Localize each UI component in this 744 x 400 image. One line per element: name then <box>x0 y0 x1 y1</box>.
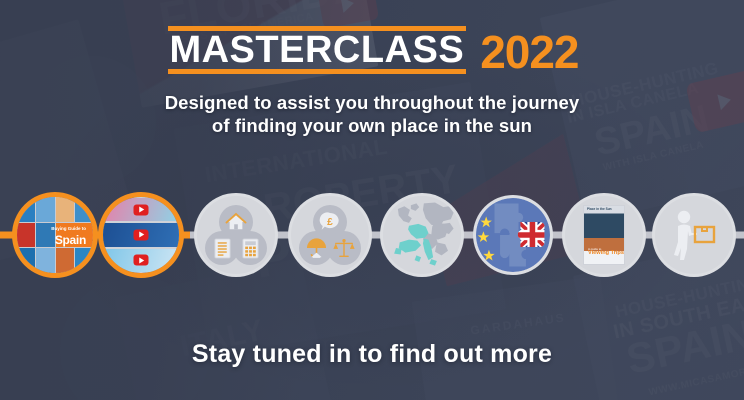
timeline-node-viewing-trips[interactable]: Place in the Sun A guide to Viewing Trip… <box>562 193 646 277</box>
title-row: MASTERCLASS 2022 <box>0 24 744 77</box>
footer-text: Stay tuned in to find out more <box>0 340 744 369</box>
video-thumbnail-italy <box>103 249 179 272</box>
person-carrying-box-icon <box>669 209 719 261</box>
timeline-node-brexit[interactable] <box>473 195 553 275</box>
timeline-node-moving[interactable] <box>652 193 736 277</box>
play-icon <box>134 204 149 215</box>
title-year: 2022 <box>480 29 578 75</box>
subtitle-line-2: of finding your own place in the sun <box>0 114 744 137</box>
timeline-node-finance-legal[interactable]: £ <box>288 193 372 277</box>
subtitle-line-1: Designed to assist you throughout the jo… <box>0 91 744 114</box>
svg-text:£: £ <box>327 217 333 228</box>
timeline-node-magazines[interactable]: Spain Buying Guide to <box>12 192 98 278</box>
video-thumbnail-property-markets <box>103 223 179 246</box>
europe-map-graphic <box>383 193 461 277</box>
timeline-node-videos[interactable] <box>98 192 184 278</box>
brexit-puzzle-graphic <box>476 195 550 275</box>
magazine-cover-title: Spain <box>55 234 86 246</box>
icon-cluster-finance-legal: £ <box>291 196 369 274</box>
scales-of-justice-icon <box>327 231 361 265</box>
play-icon <box>134 255 149 266</box>
title-underlined-box: MASTERCLASS <box>165 24 468 77</box>
subtitle: Designed to assist you throughout the jo… <box>0 91 744 137</box>
calculator-icon <box>233 231 267 265</box>
timeline-node-property-search[interactable] <box>194 193 278 277</box>
play-icon <box>134 229 149 240</box>
magazine-cover-kicker: Buying Guide to <box>51 227 86 232</box>
video-thumbnail-florida <box>103 198 179 221</box>
guide-brand: Place in the Sun <box>587 207 612 211</box>
timeline-node-europe-map[interactable] <box>380 193 464 277</box>
icon-cluster-property-search <box>197 196 275 274</box>
guide-title: Viewing Trips <box>588 251 624 257</box>
timeline: Spain Buying Guide to <box>0 180 744 290</box>
viewing-trips-guide-cover: Place in the Sun A guide to Viewing Trip… <box>583 205 625 265</box>
video-thumbnail-stack <box>103 197 179 273</box>
page-title: MASTERCLASS <box>165 31 468 69</box>
masterclass-banner: FLORIDA USA STATE OF AMERICA INTERNATION… <box>0 0 744 400</box>
header-block: MASTERCLASS 2022 Designed to assist you … <box>0 24 744 137</box>
